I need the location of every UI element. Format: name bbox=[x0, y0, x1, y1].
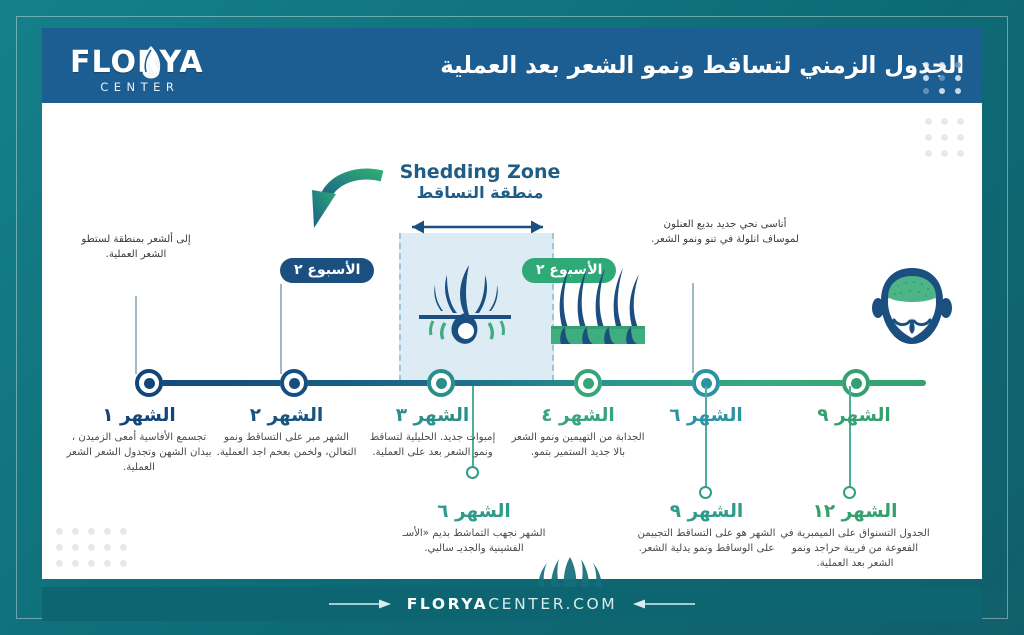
timeline-node-month-1[interactable] bbox=[135, 369, 163, 397]
timeline-item-month-9-bottom: الشهر ٩ الشهر هو على التساقط التجبيمن عل… bbox=[634, 502, 779, 557]
shedding-zone-title-en: Shedding Zone bbox=[385, 162, 575, 184]
page-title: الجدول الزمني لتساقط ونمو الشعر بعد العم… bbox=[440, 54, 964, 78]
note-right: أناسى نحي جديد بديع العنلون لموساف انلول… bbox=[650, 218, 800, 248]
month-desc-4: الجدابة من التهيمين ونمو الشعر بالا جديد… bbox=[504, 431, 652, 461]
footer-brand-bold: FLORYA bbox=[407, 595, 489, 613]
stub-dot-month-6 bbox=[466, 466, 479, 479]
timeline-item-month-6-top: الشهر ٦ bbox=[642, 406, 770, 426]
outer-frame: الجدول الزمني لتساقط ونمو الشعر بعد العم… bbox=[0, 0, 1024, 635]
footer-brand: FLORYACENTER.COM bbox=[407, 595, 618, 613]
timeline-node-month-9[interactable] bbox=[842, 369, 870, 397]
shedding-zone-title: Shedding Zone منطقة التساقط bbox=[385, 162, 575, 202]
month-desc-3: إمبوات جديد. الحليلية لتساقط ونمو الشعر … bbox=[360, 431, 505, 461]
head-graft-icon bbox=[868, 264, 956, 350]
month-label-6-top: الشهر ٦ bbox=[642, 406, 770, 426]
month-desc-6-bottom: الشهر نجهب التماشط بديم «الأسـ الفشينية … bbox=[400, 527, 548, 557]
dot-decoration-bottom-left bbox=[56, 528, 127, 567]
infographic-card: الجدول الزمني لتساقط ونمو الشعر بعد العم… bbox=[42, 28, 982, 579]
month-label-9-bottom: الشهر ٩ bbox=[634, 502, 779, 522]
month-desc-12-bottom: الجدول التسنواق على الميمبرية في الفعوعة… bbox=[780, 527, 930, 571]
month-label-1: الشهر ١ bbox=[64, 406, 214, 426]
footer-brand-light: CENTER.COM bbox=[488, 595, 617, 613]
hair-follicle-icon bbox=[415, 259, 515, 351]
month-desc-1: تجسمع الأفاسية أمعى الزميدن ، بيدان الشه… bbox=[64, 431, 214, 475]
month-label-2: الشهر ٢ bbox=[214, 406, 359, 426]
month-label-4: الشهر ٤ bbox=[504, 406, 652, 426]
month-label-3: الشهر ٣ bbox=[360, 406, 505, 426]
stub-dot-month-9 bbox=[699, 486, 712, 499]
timeline-item-month-2: الشهر ٢ الشهر مبر على التساقط ونمو التعا… bbox=[214, 406, 359, 461]
dot-decoration-top-right bbox=[925, 118, 964, 157]
timeline-item-month-6-bottom: الشهر ٦ الشهر نجهب التماشط بديم «الأسـ ا… bbox=[400, 502, 548, 557]
header-bar: الجدول الزمني لتساقط ونمو الشعر بعد العم… bbox=[42, 28, 982, 103]
connector-lower-month-12 bbox=[849, 386, 851, 490]
note-left: إلى ألشعر بمنطقة لستطو الشعر العملية. bbox=[72, 233, 200, 263]
timeline-node-month-4[interactable] bbox=[574, 369, 602, 397]
header-dot-decoration bbox=[923, 62, 964, 94]
timeline-item-month-1: الشهر ١ تجسمع الأفاسية أمعى الزميدن ، بي… bbox=[64, 406, 214, 476]
timeline-item-month-9-top: الشهر ٩ bbox=[790, 406, 918, 426]
month-label-9-top: الشهر ٩ bbox=[790, 406, 918, 426]
connector-note-left bbox=[135, 296, 137, 374]
timeline-node-month-3[interactable] bbox=[427, 369, 455, 397]
month-label-6-bottom: الشهر ٦ bbox=[400, 502, 548, 522]
timeline-node-month-2[interactable] bbox=[280, 369, 308, 397]
hair-growth-patch-icon bbox=[547, 264, 649, 350]
timeline-item-month-12-bottom: الشهر ١٢ الجدول التسنواق على الميمبرية ف… bbox=[780, 502, 930, 572]
connector-lower-month-9 bbox=[705, 386, 707, 490]
month-desc-2: الشهر مبر على التساقط ونمو التعالن، ولخم… bbox=[214, 431, 359, 461]
timeline-axis bbox=[154, 380, 926, 386]
double-headed-arrow-icon bbox=[400, 218, 555, 236]
connector-pill-left bbox=[280, 284, 282, 374]
month-desc-9-bottom: الشهر هو على التساقط التجبيمن على الوساق… bbox=[634, 527, 779, 557]
stub-dot-month-12 bbox=[843, 486, 856, 499]
timeline-item-month-3: الشهر ٣ إمبوات جديد. الحليلية لتساقط ونم… bbox=[360, 406, 505, 461]
week-pill-left[interactable]: الأسبوع ٢ bbox=[280, 258, 374, 283]
timeline-item-month-4: الشهر ٤ الجدابة من التهيمين ونمو الشعر ب… bbox=[504, 406, 652, 461]
footer-bar: FLORYACENTER.COM bbox=[42, 587, 982, 621]
month-label-12-bottom: الشهر ١٢ bbox=[780, 502, 930, 522]
curved-arrow-icon bbox=[310, 168, 384, 238]
connector-note-right bbox=[692, 283, 694, 373]
arrow-left-icon bbox=[631, 598, 695, 610]
shedding-zone-title-ar: منطقة التساقط bbox=[385, 184, 575, 202]
arrow-right-icon bbox=[329, 598, 393, 610]
